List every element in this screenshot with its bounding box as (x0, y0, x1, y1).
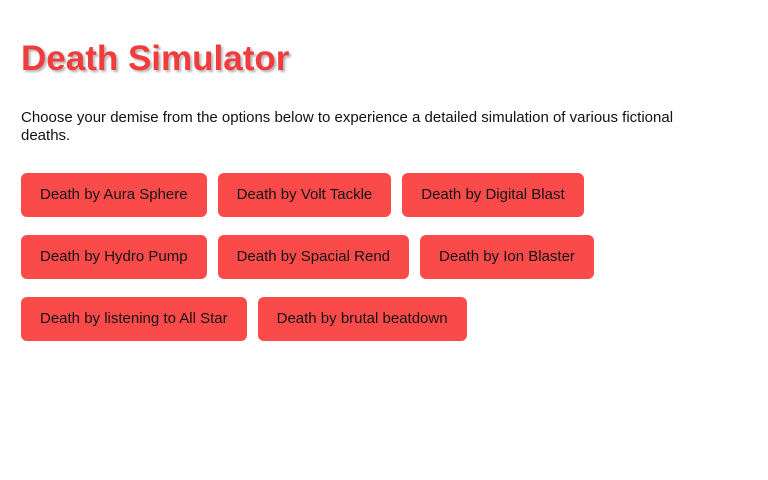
page-title: Death Simulator (21, 39, 747, 79)
description-block: Choose your demise from the options belo… (21, 109, 747, 145)
death-option-button[interactable]: Death by Hydro Pump (21, 235, 207, 279)
death-option-button[interactable]: Death by Spacial Rend (218, 235, 409, 279)
death-simulator-page: Death Simulator Choose your demise from … (0, 0, 768, 480)
death-option-button[interactable]: Death by Volt Tackle (218, 173, 392, 217)
death-option-button[interactable]: Death by brutal beatdown (258, 297, 467, 341)
title-block: Death Simulator (21, 39, 747, 79)
death-option-button[interactable]: Death by Digital Blast (402, 173, 583, 217)
death-options-row-2: Death by Hydro Pump Death by Spacial Ren… (21, 235, 747, 279)
death-option-button[interactable]: Death by Ion Blaster (420, 235, 594, 279)
page-description: Choose your demise from the options belo… (21, 109, 721, 145)
death-option-button[interactable]: Death by Aura Sphere (21, 173, 207, 217)
death-options-list: Death by Aura Sphere Death by Volt Tackl… (21, 173, 747, 341)
death-options-row-3: Death by listening to All Star Death by … (21, 297, 747, 341)
death-option-button[interactable]: Death by listening to All Star (21, 297, 247, 341)
death-options-row-1: Death by Aura Sphere Death by Volt Tackl… (21, 173, 747, 217)
